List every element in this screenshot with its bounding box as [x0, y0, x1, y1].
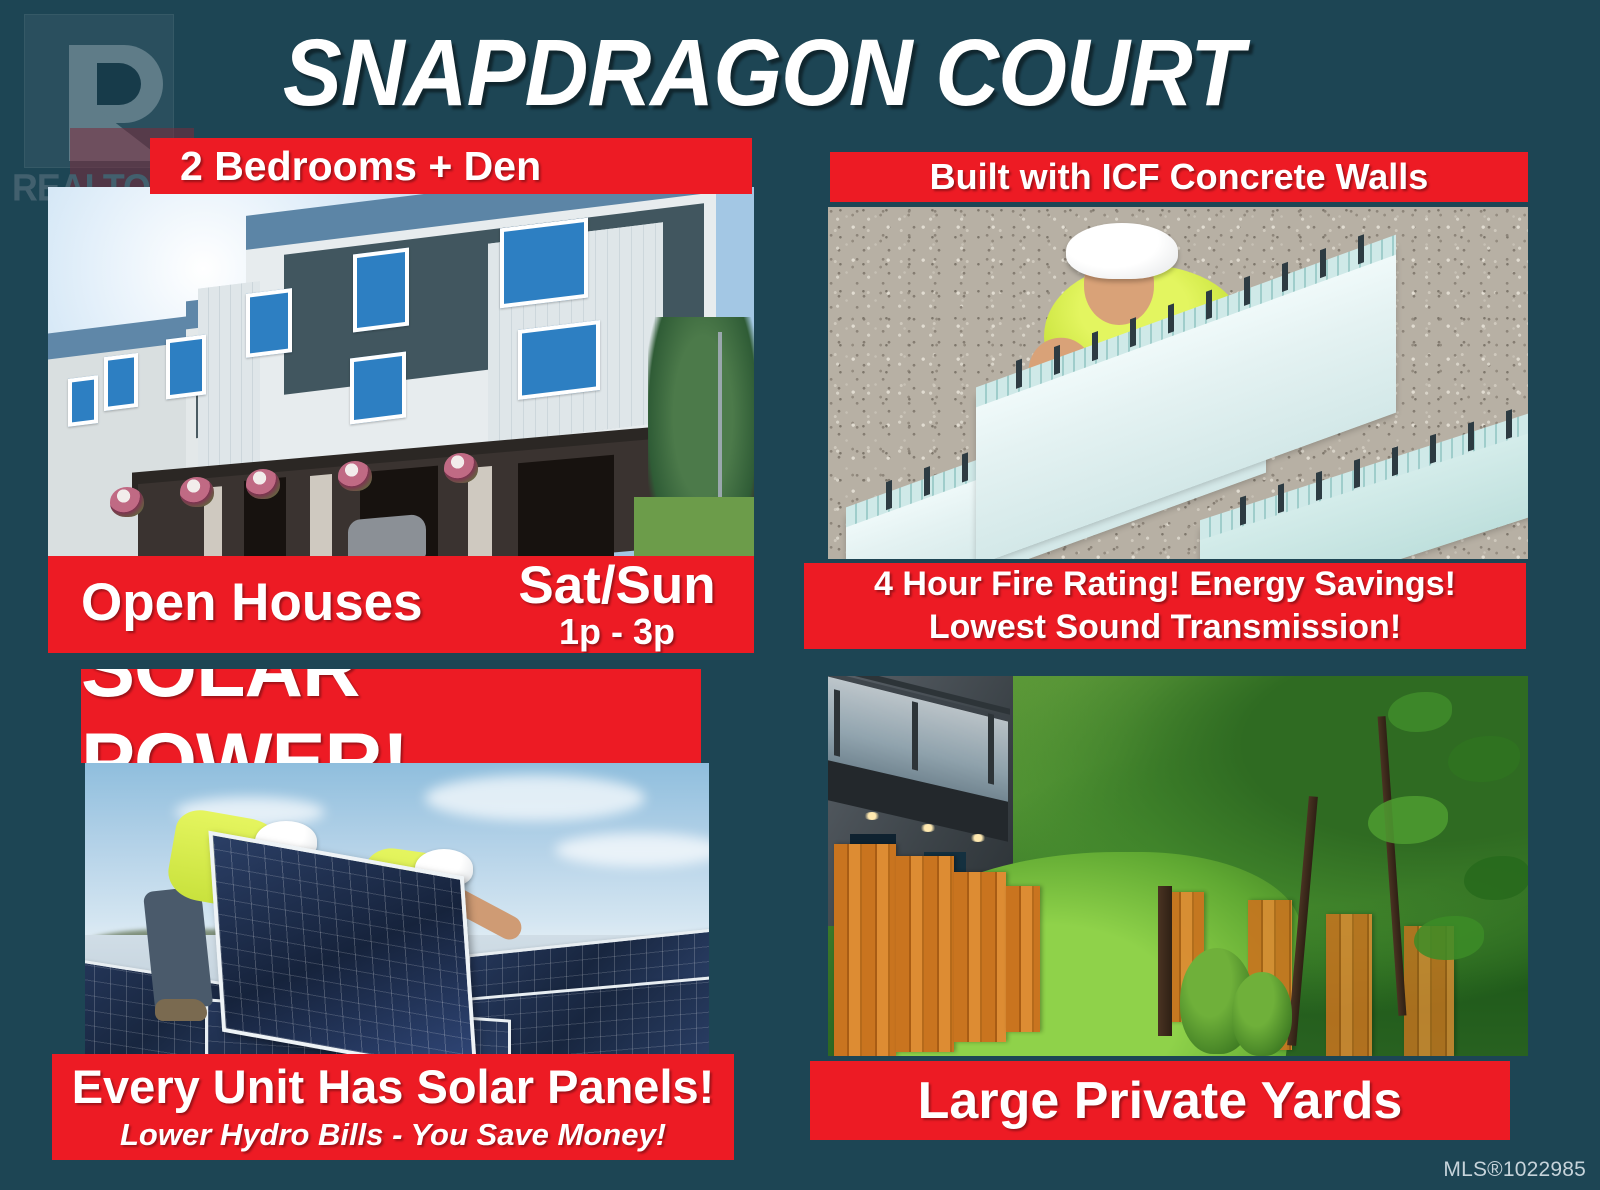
bedrooms-banner: 2 Bedrooms + Den — [150, 138, 752, 194]
window — [104, 353, 138, 411]
window — [500, 218, 588, 309]
shrub — [1232, 972, 1292, 1056]
solar-caption-line-2: Lower Hydro Bills - You Save Money! — [120, 1115, 666, 1155]
entry-door — [310, 474, 332, 559]
flower-basket — [180, 477, 214, 507]
window — [518, 320, 600, 400]
solar-panels-caption-banner: Every Unit Has Solar Panels! Lower Hydro… — [52, 1054, 734, 1160]
cedar-fence-panel — [896, 856, 954, 1052]
listing-flyer: REALTOR® SNAPDRAGON COURT — [0, 0, 1600, 1190]
townhouse-exterior-photo — [48, 187, 754, 559]
open-houses-schedule: Sat/Sun 1p - 3p — [502, 558, 732, 650]
icf-block-installation-photo — [828, 207, 1528, 559]
hard-hat-icon — [1066, 223, 1178, 279]
open-houses-time: 1p - 3p — [502, 614, 732, 650]
cedar-fence-panel — [1006, 886, 1040, 1032]
window — [353, 248, 409, 333]
balcony-rail-post — [988, 713, 994, 784]
open-houses-label: Open Houses — [81, 572, 423, 633]
pot-light — [920, 824, 936, 832]
cedar-fence-panel — [1326, 914, 1372, 1056]
private-yards-banner: Large Private Yards — [810, 1061, 1510, 1140]
flower-basket — [246, 469, 280, 499]
solar-caption-line-1: Every Unit Has Solar Panels! — [72, 1059, 715, 1115]
bedrooms-banner-text: 2 Bedrooms + Den — [180, 143, 541, 190]
pot-light — [970, 834, 986, 842]
window — [246, 288, 292, 358]
balcony-rail-post — [834, 689, 840, 756]
logo-counter — [97, 63, 141, 105]
window — [68, 375, 98, 427]
icf-benefit-line-2: Lowest Sound Transmission! — [929, 606, 1401, 649]
work-boot — [155, 999, 207, 1021]
solar-power-banner-text: SOLAR POWER! — [81, 669, 701, 763]
open-houses-banner: Open Houses Sat/Sun 1p - 3p — [48, 556, 754, 653]
icf-banner-text: Built with ICF Concrete Walls — [930, 156, 1429, 198]
private-yards-banner-text: Large Private Yards — [918, 1071, 1403, 1131]
flower-basket — [338, 461, 372, 491]
pot-light — [864, 812, 880, 820]
solar-power-banner: SOLAR POWER! — [81, 669, 701, 763]
window — [166, 335, 206, 400]
private-yard-photo — [828, 676, 1528, 1056]
page-title: SNAPDRAGON COURT — [205, 18, 1321, 128]
window — [350, 352, 406, 425]
icf-benefit-line-1: 4 Hour Fire Rating! Energy Savings! — [874, 563, 1456, 606]
balcony-rail-post — [912, 701, 918, 770]
grass-strip — [634, 497, 754, 559]
icf-benefits-banner: 4 Hour Fire Rating! Energy Savings! Lowe… — [804, 563, 1526, 649]
flower-basket — [444, 453, 478, 483]
worker-legs — [143, 886, 213, 1011]
open-houses-days: Sat/Sun — [502, 558, 732, 614]
flower-basket — [110, 487, 144, 517]
open-garage — [518, 455, 614, 559]
cloud — [425, 775, 645, 821]
cedar-fence-panel — [834, 844, 896, 1056]
mls-number: MLS®1022985 — [1443, 1158, 1586, 1182]
solar-panel-installation-photo — [85, 763, 709, 1059]
tree-trunk — [1158, 886, 1172, 1036]
cedar-fence-panel — [954, 872, 1006, 1042]
parked-car — [348, 514, 426, 559]
icf-banner: Built with ICF Concrete Walls — [830, 152, 1528, 202]
